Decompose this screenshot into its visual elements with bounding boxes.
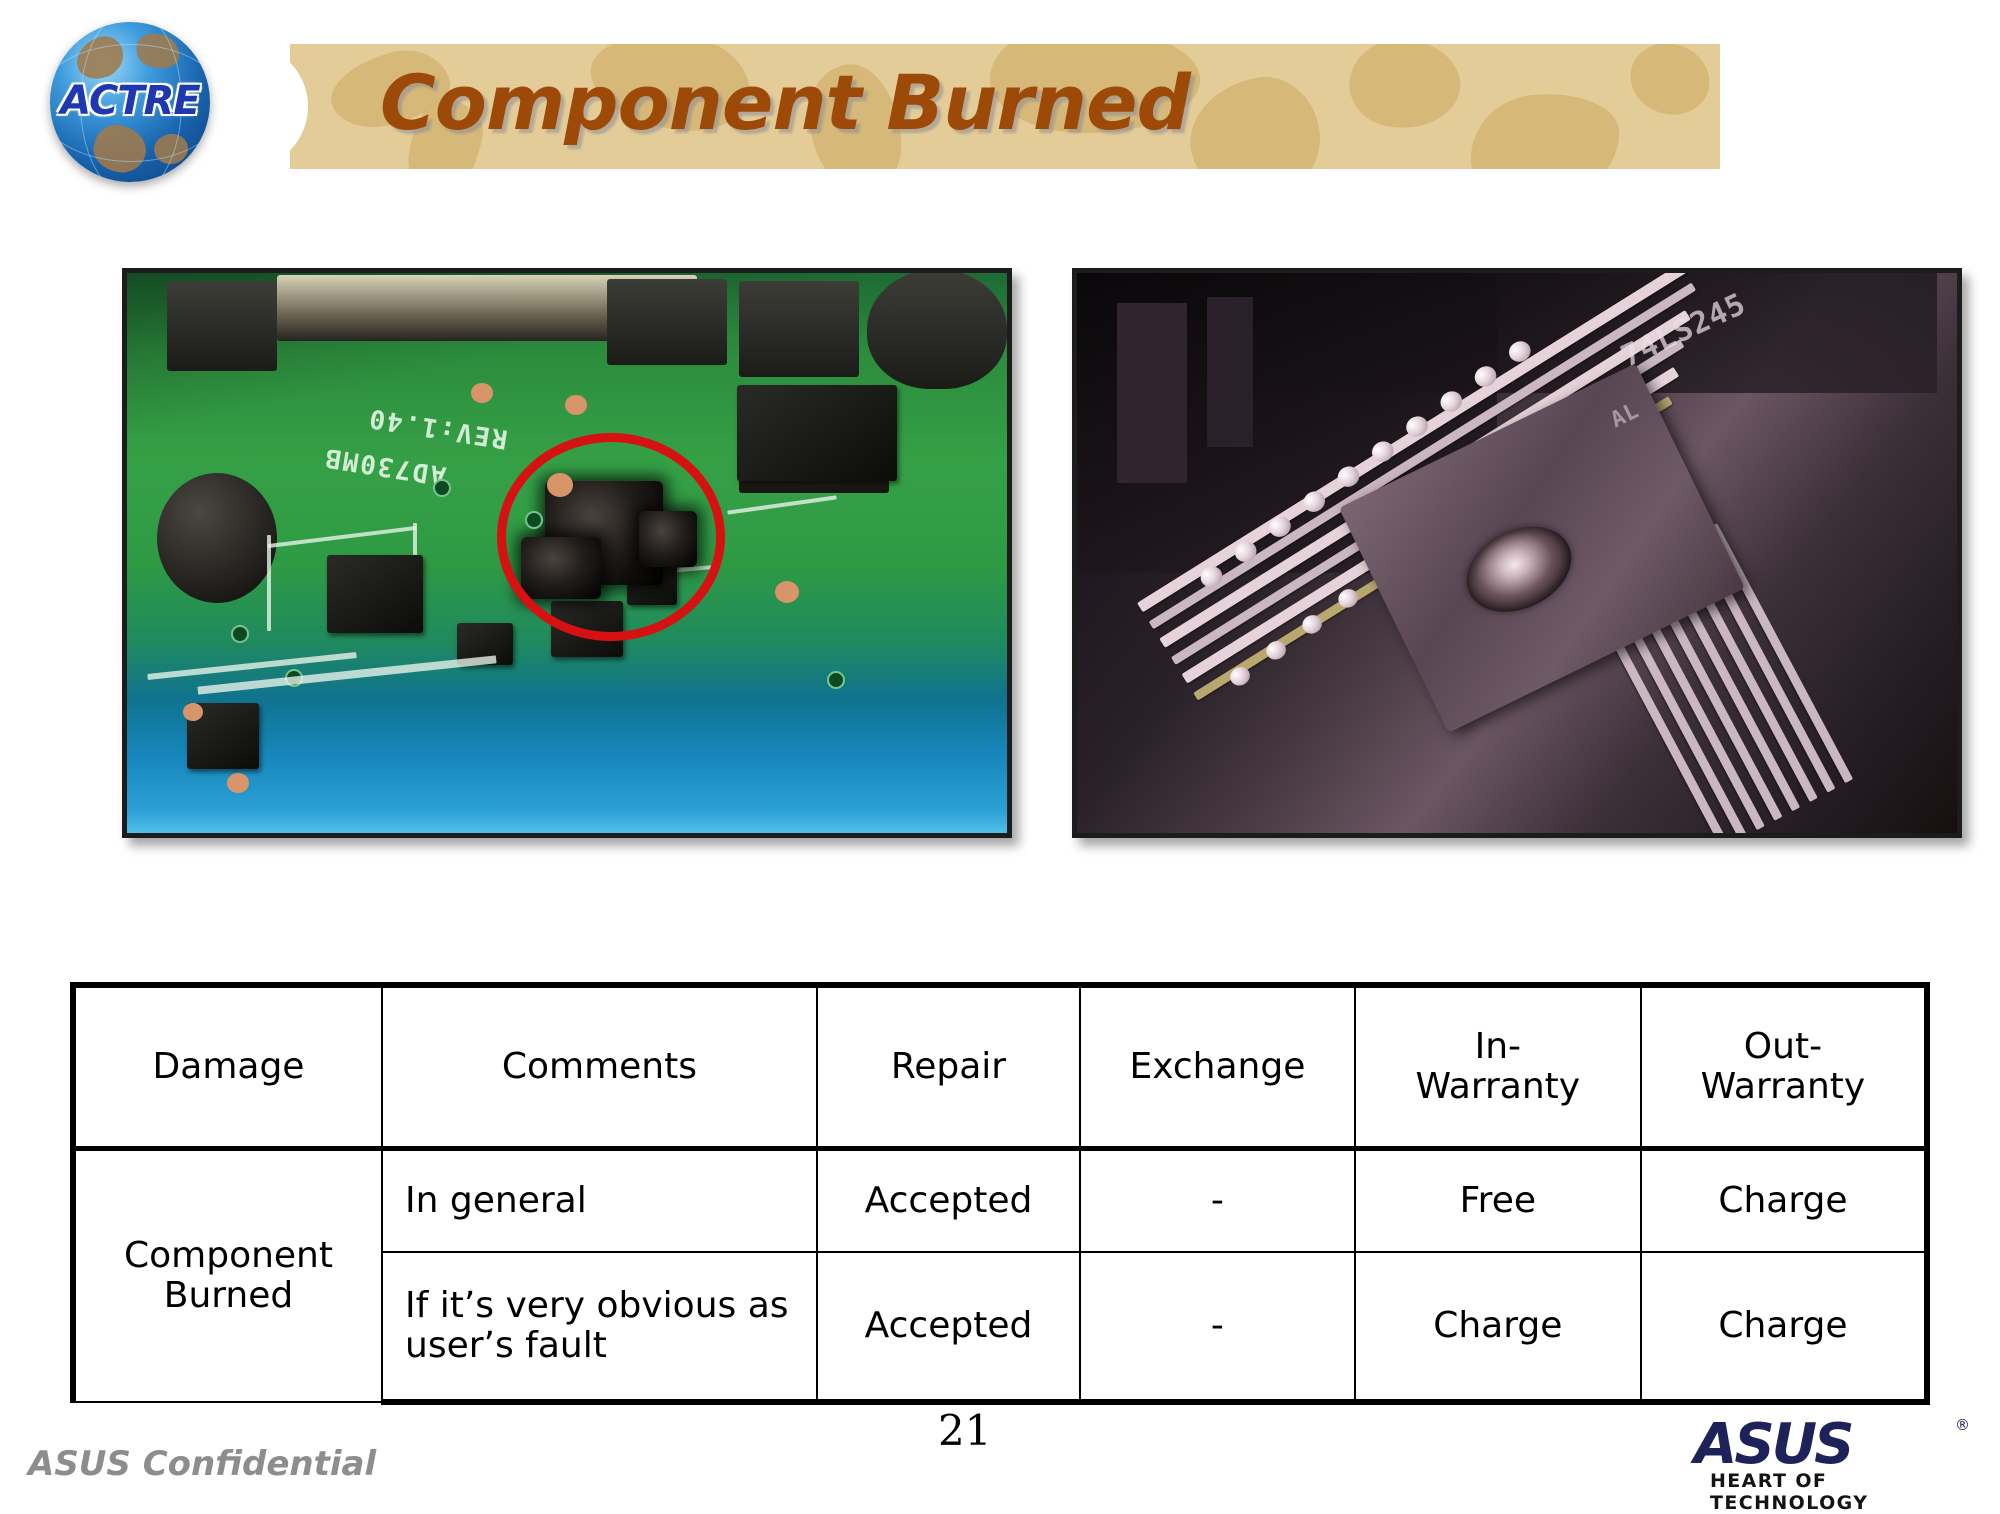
cell-in-warranty: Free xyxy=(1355,1149,1641,1253)
page-title: Component Burned xyxy=(380,58,1190,147)
column-header-out-warranty: Out- Warranty xyxy=(1641,985,1927,1149)
world-map-shape xyxy=(1620,44,1719,126)
world-map-shape xyxy=(1181,69,1330,169)
asus-tagline: HEART OF TECHNOLOGY xyxy=(1710,1470,1972,1514)
cell-exchange: - xyxy=(1080,1149,1355,1253)
cell-repair: Accepted xyxy=(817,1149,1080,1253)
cell-comments: If it’s very obvious as user’s fault xyxy=(382,1252,817,1402)
column-header-in-warranty: In- Warranty xyxy=(1355,985,1641,1149)
in-warranty-line-2: Warranty xyxy=(1415,1066,1580,1107)
pcb-surface: AL 74LS245 xyxy=(1077,273,1957,833)
red-circle-annotation xyxy=(497,433,725,641)
out-warranty-line-2: Warranty xyxy=(1701,1066,1866,1107)
damage-line-1: Component xyxy=(124,1235,333,1276)
registered-trademark-icon: ® xyxy=(1955,1416,1970,1434)
warranty-policy-table: Damage Comments Repair Exchange In- Warr… xyxy=(70,982,1930,1405)
asus-wordmark: ASUS xyxy=(1694,1412,1851,1477)
burned-smd-component-photo: AD730MB REV:1.40 xyxy=(122,268,1012,838)
cell-out-warranty: Charge xyxy=(1641,1252,1927,1402)
actre-logo-text: ACTRE xyxy=(50,78,210,124)
cell-exchange: - xyxy=(1080,1252,1355,1402)
cell-comments: In general xyxy=(382,1149,817,1253)
damage-line-2: Burned xyxy=(164,1275,294,1316)
column-header-damage: Damage xyxy=(73,985,382,1149)
title-banner: Component Burned xyxy=(290,44,1720,169)
world-map-shape xyxy=(1342,44,1468,139)
column-header-repair: Repair xyxy=(817,985,1080,1149)
in-warranty-line-1: In- xyxy=(1475,1026,1521,1067)
world-map-shape xyxy=(1466,88,1625,169)
burned-dip-ic-photo: AL 74LS245 xyxy=(1072,268,1962,838)
confidential-notice: ASUS Confidential xyxy=(28,1444,376,1484)
actre-globe-logo: ACTRE xyxy=(50,22,210,182)
table-row: Component Burned In general Accepted - F… xyxy=(73,1149,1927,1253)
cell-damage-type: Component Burned xyxy=(73,1149,382,1403)
cell-repair: Accepted xyxy=(817,1252,1080,1402)
column-header-exchange: Exchange xyxy=(1080,985,1355,1149)
asus-logo: ASUS ® HEART OF TECHNOLOGY xyxy=(1672,1412,1972,1494)
pcb-surface: AD730MB REV:1.40 xyxy=(127,273,1007,833)
cell-in-warranty: Charge xyxy=(1355,1252,1641,1402)
table-header-row: Damage Comments Repair Exchange In- Warr… xyxy=(73,985,1927,1149)
column-header-comments: Comments xyxy=(382,985,817,1149)
out-warranty-line-1: Out- xyxy=(1744,1026,1822,1067)
page-number: 21 xyxy=(938,1406,991,1455)
cell-out-warranty: Charge xyxy=(1641,1149,1927,1253)
burn-damage-spot xyxy=(1452,510,1585,628)
ic-marking-text: AL xyxy=(1607,398,1644,433)
